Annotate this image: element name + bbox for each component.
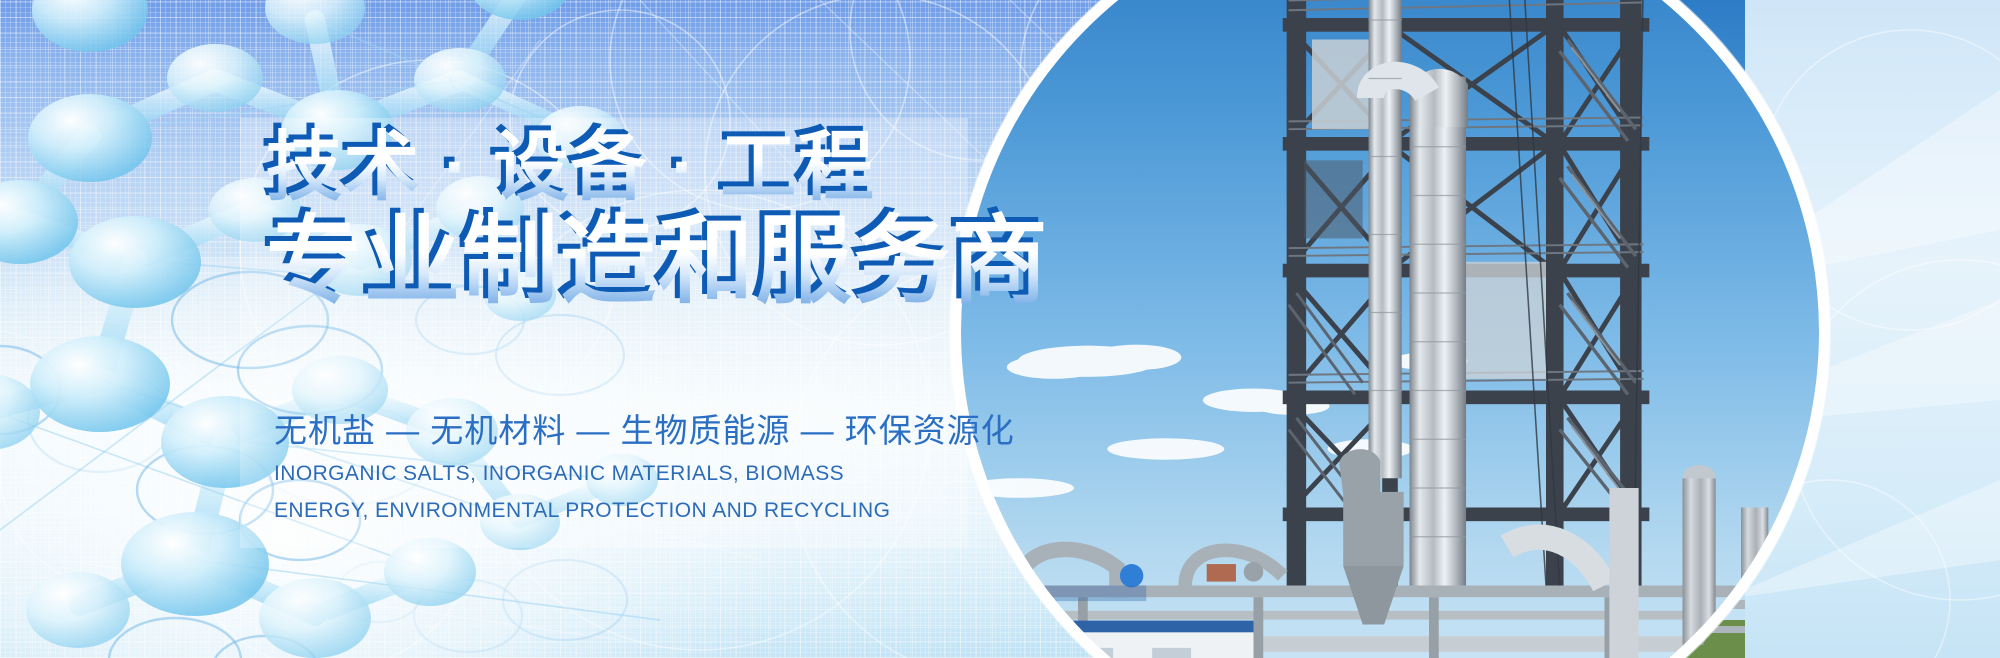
- headline-line-2-wrap: 专业制造和服务商 专业制造和服务商: [266, 211, 1066, 313]
- hero-banner: 技术 · 设备 · 工程 技术 · 设备 · 工程 专业制造和服务商 专业制造和…: [0, 0, 2000, 658]
- industrial-plant-photo: [950, 0, 1830, 658]
- industrial-scene-svg: [961, 0, 1819, 658]
- subtitle-english: INORGANIC SALTS, INORGANIC MATERIALS, BI…: [274, 456, 914, 530]
- molecular-structure-artwork: [0, 0, 780, 658]
- headline-line-1: 技术 · 设备 · 工程: [266, 128, 1066, 209]
- headline-line-2: 专业制造和服务商: [266, 211, 1066, 313]
- headline-block: 技术 · 设备 · 工程 技术 · 设备 · 工程 专业制造和服务商 专业制造和…: [266, 128, 1066, 312]
- headline-line-1-wrap: 技术 · 设备 · 工程 技术 · 设备 · 工程: [266, 128, 1066, 209]
- subtitle-chinese: 无机盐 — 无机材料 — 生物质能源 — 环保资源化: [274, 404, 1015, 452]
- photo-circle-clip: [961, 0, 1819, 658]
